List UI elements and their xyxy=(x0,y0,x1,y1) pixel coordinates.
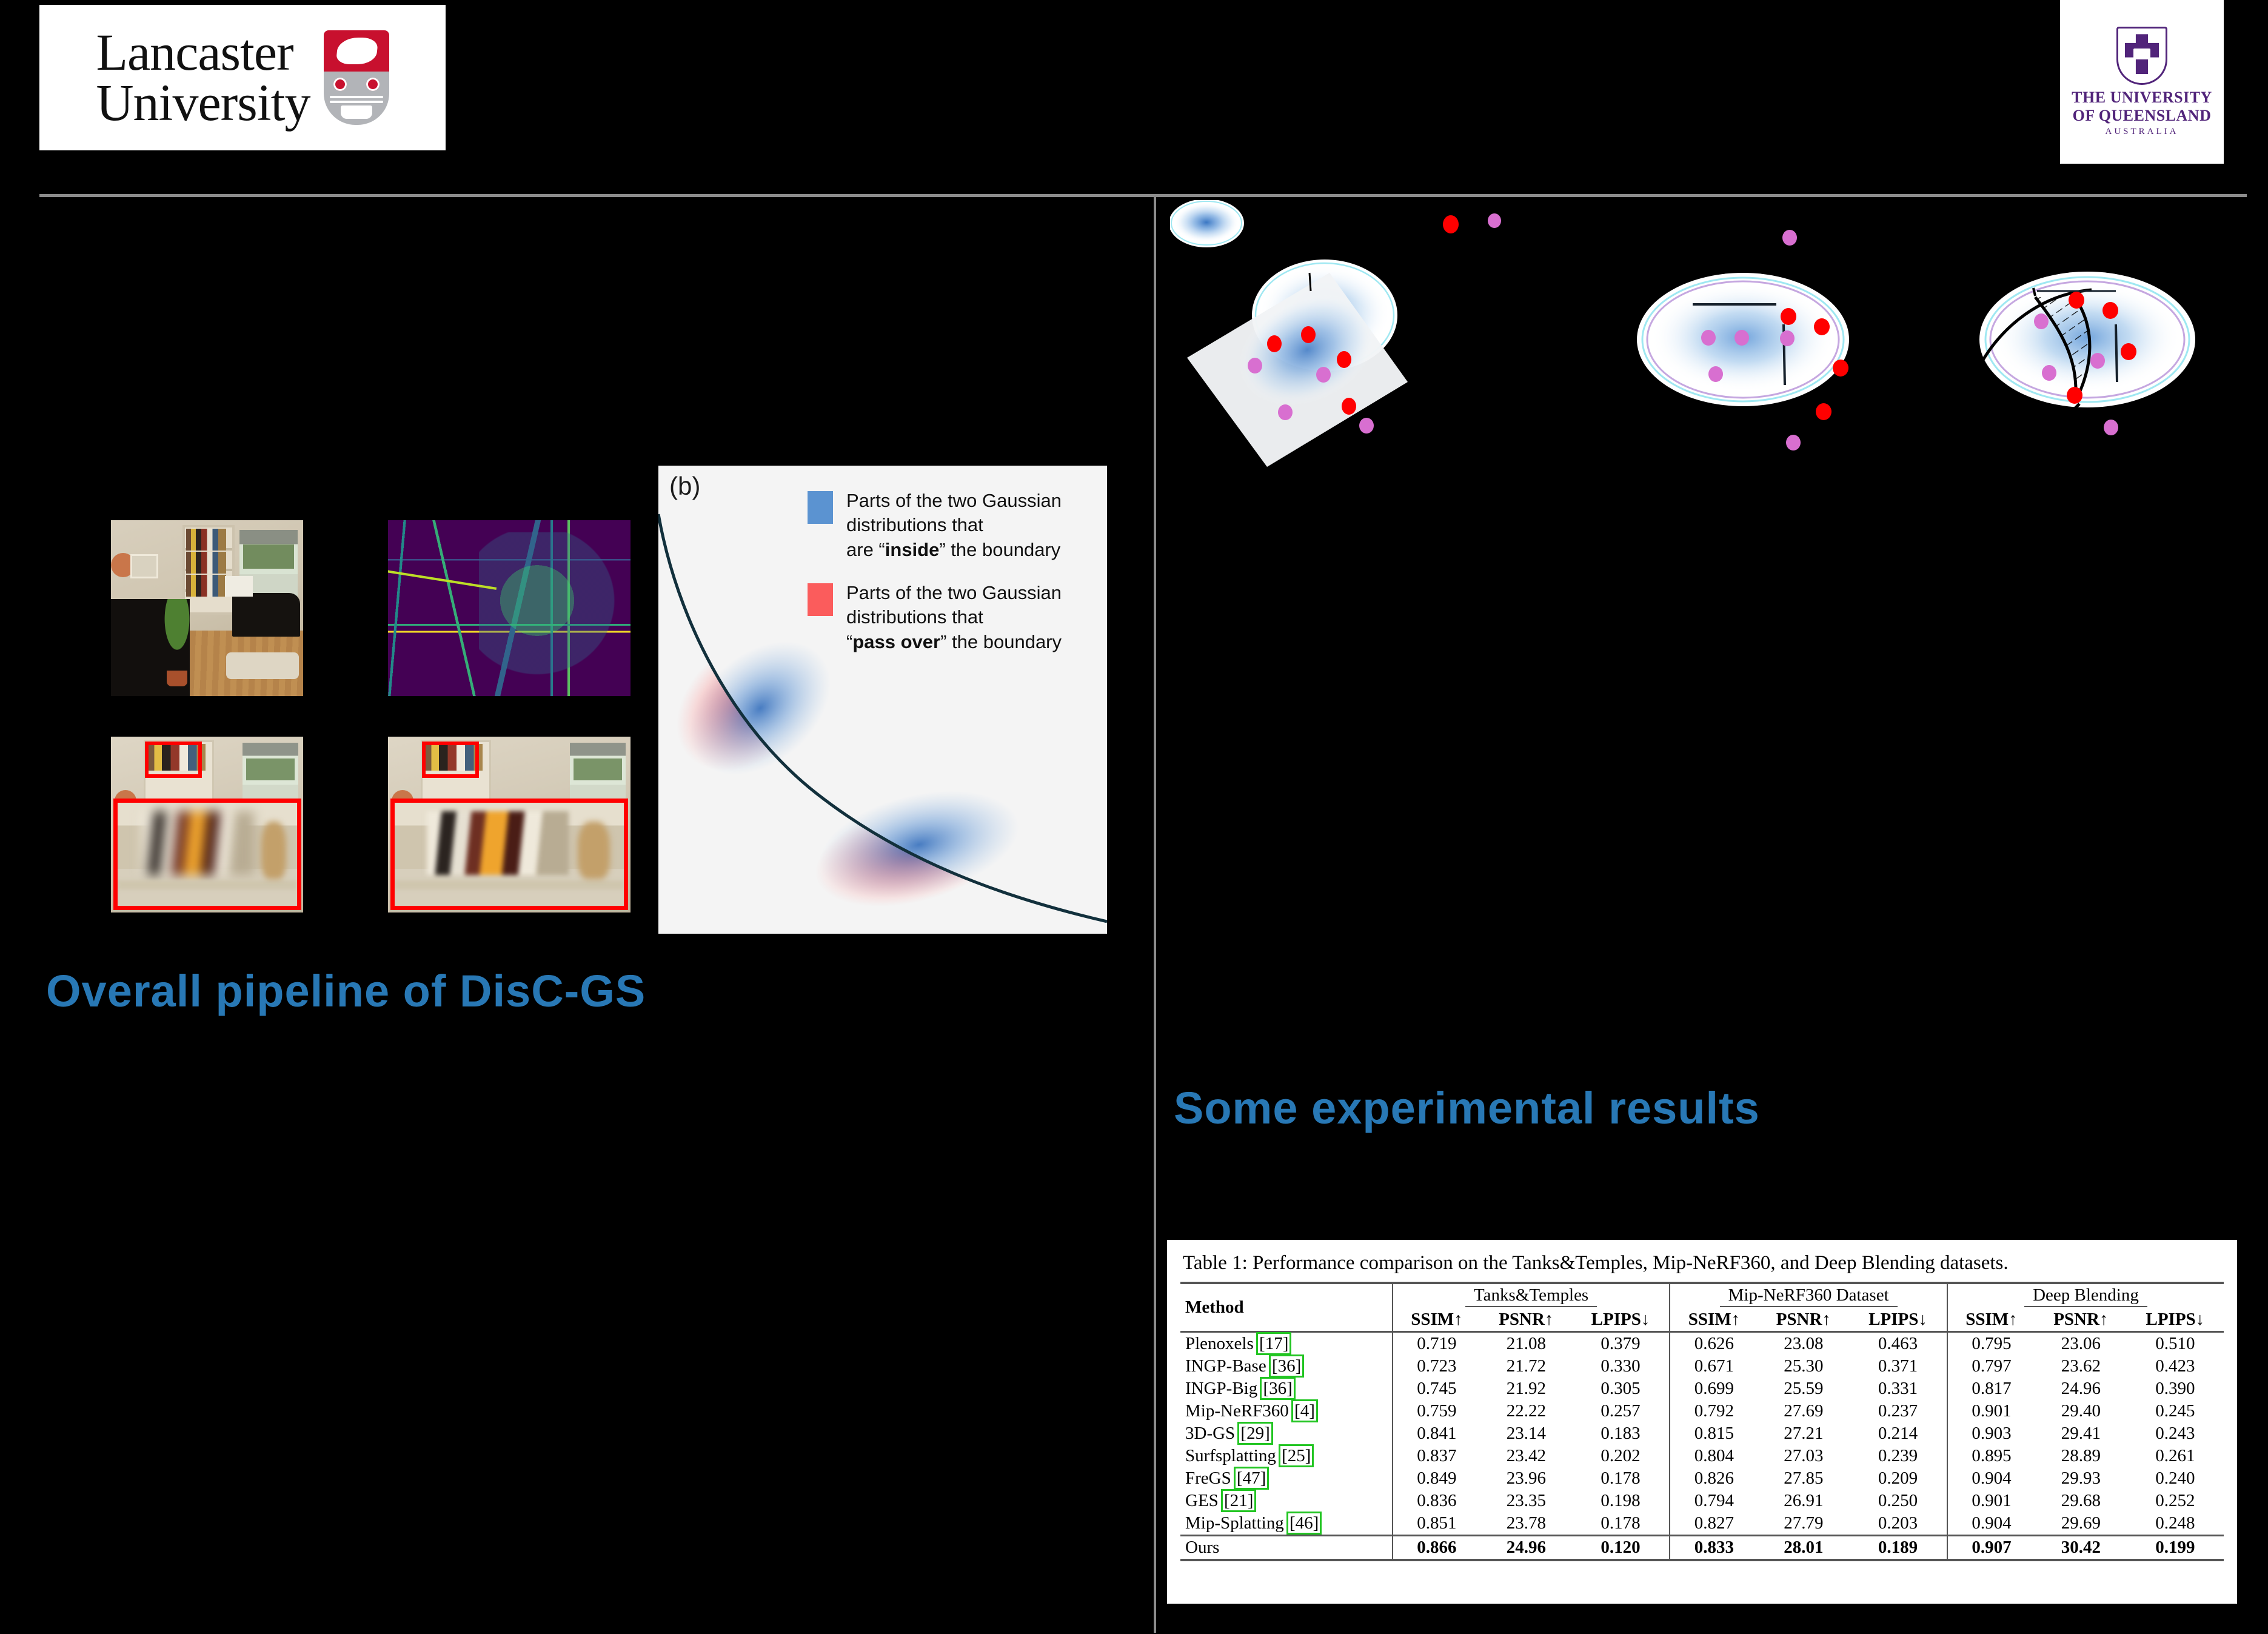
uq-crest-icon xyxy=(2116,27,2167,85)
cell-value: 27.21 xyxy=(1758,1422,1849,1445)
panel-1-gaussian-on-plane xyxy=(1187,259,1408,467)
table-group-header-row: Method Tanks&Temples Mip-NeRF360 Dataset… xyxy=(1180,1283,2224,1308)
citation-ref[interactable]: [47] xyxy=(1236,1468,1267,1488)
ours-result-with-zoom-crop xyxy=(388,737,631,912)
cell-value: 29.69 xyxy=(2035,1512,2127,1536)
table-row: Ours0.86624.960.1200.83328.010.1890.9073… xyxy=(1180,1535,2224,1560)
cell-method: Ours xyxy=(1180,1535,1393,1560)
cell-method: Plenoxels [17] xyxy=(1180,1331,1393,1355)
cell-value: 0.248 xyxy=(2127,1512,2224,1536)
table-row: Plenoxels [17]0.71921.080.3790.62623.080… xyxy=(1180,1331,2224,1355)
cell-value: 27.69 xyxy=(1758,1400,1849,1422)
cell-value: 0.901 xyxy=(1947,1400,2035,1422)
discrete-gaussian-clipping-diagram xyxy=(1170,200,2255,485)
cell-method: FreGS [47] xyxy=(1180,1467,1393,1490)
cell-value: 0.243 xyxy=(2127,1422,2224,1445)
cell-value: 23.96 xyxy=(1480,1467,1572,1490)
cell-method: Surfsplatting [25] xyxy=(1180,1445,1393,1467)
cell-value: 30.42 xyxy=(2035,1535,2127,1560)
cell-value: 0.237 xyxy=(1849,1400,1947,1422)
cell-value: 0.240 xyxy=(2127,1467,2224,1490)
cell-method: 3D-GS [29] xyxy=(1180,1422,1393,1445)
cell-value: 28.89 xyxy=(2035,1445,2127,1467)
cell-value: 0.797 xyxy=(1947,1355,2035,1378)
cell-value: 0.841 xyxy=(1393,1422,1480,1445)
col-header-lpips-3: LPIPS↓ xyxy=(2127,1308,2224,1332)
cell-value: 0.907 xyxy=(1947,1535,2035,1560)
cell-value: 24.96 xyxy=(2035,1378,2127,1400)
cell-value: 0.423 xyxy=(2127,1355,2224,1378)
cell-value: 0.699 xyxy=(1670,1378,1758,1400)
col-header-ssim-1: SSIM↑ xyxy=(1393,1308,1480,1332)
cell-value: 29.40 xyxy=(2035,1400,2127,1422)
cell-value: 0.371 xyxy=(1849,1355,1947,1378)
cell-value: 23.08 xyxy=(1758,1331,1849,1355)
performance-comparison-table: Method Tanks&Temples Mip-NeRF360 Dataset… xyxy=(1180,1282,2224,1561)
cell-value: 0.178 xyxy=(1572,1467,1670,1490)
legend-item-pass-over: Parts of the two Gaussiandistributions t… xyxy=(808,581,1062,654)
cell-method: INGP-Base [36] xyxy=(1180,1355,1393,1378)
lancaster-logo-wordmark: Lancaster University xyxy=(96,27,310,127)
cell-value: 23.35 xyxy=(1480,1490,1572,1512)
cell-value: 0.866 xyxy=(1393,1535,1480,1560)
table-caption: Table 1: Performance comparison on the T… xyxy=(1183,1251,2224,1276)
col-header-psnr-3: PSNR↑ xyxy=(2035,1308,2127,1332)
cell-method: INGP-Big [36] xyxy=(1180,1378,1393,1400)
cell-value: 23.06 xyxy=(2035,1331,2127,1355)
cell-value: 0.759 xyxy=(1393,1400,1480,1422)
cell-value: 25.30 xyxy=(1758,1355,1849,1378)
cell-value: 21.72 xyxy=(1480,1355,1572,1378)
cell-value: 0.904 xyxy=(1947,1467,2035,1490)
cell-value: 0.719 xyxy=(1393,1331,1480,1355)
cell-value: 0.198 xyxy=(1572,1490,1670,1512)
cell-value: 0.895 xyxy=(1947,1445,2035,1467)
gaussian-boundary-panel: (b) Parts of the two Gaussiandistributio… xyxy=(658,466,1107,934)
cell-value: 0.189 xyxy=(1849,1535,1947,1560)
citation-ref[interactable]: [36] xyxy=(1262,1379,1293,1398)
legend-item-inside: Parts of the two Gaussiandistributions t… xyxy=(808,489,1062,562)
cell-value: 0.183 xyxy=(1572,1422,1670,1445)
cell-value: 0.261 xyxy=(2127,1445,2224,1467)
table-row: INGP-Big [36]0.74521.920.3050.69925.590.… xyxy=(1180,1378,2224,1400)
col-header-psnr-1: PSNR↑ xyxy=(1480,1308,1572,1332)
crop-box-small xyxy=(145,742,202,778)
cell-value: 25.59 xyxy=(1758,1378,1849,1400)
cell-value: 21.92 xyxy=(1480,1378,1572,1400)
cell-value: 0.794 xyxy=(1670,1490,1758,1512)
lone-magenta-dot xyxy=(1488,213,1501,228)
cell-value: 23.78 xyxy=(1480,1512,1572,1536)
cell-value: 0.626 xyxy=(1670,1331,1758,1355)
cell-value: 0.815 xyxy=(1670,1422,1758,1445)
cell-value: 0.792 xyxy=(1670,1400,1758,1422)
col-header-psnr-2: PSNR↑ xyxy=(1758,1308,1849,1332)
legend-label-pass-over: Parts of the two Gaussiandistributions t… xyxy=(846,581,1062,654)
cell-value: 29.68 xyxy=(2035,1490,2127,1512)
lancaster-logo-line1: Lancaster xyxy=(96,27,310,78)
cell-value: 23.14 xyxy=(1480,1422,1572,1445)
cell-value: 0.671 xyxy=(1670,1355,1758,1378)
table-row: GES [21]0.83623.350.1980.79426.910.2500.… xyxy=(1180,1490,2224,1512)
panel-b-label: (b) xyxy=(669,472,700,501)
legend-swatch-pass-over xyxy=(808,583,833,616)
cell-value: 0.804 xyxy=(1670,1445,1758,1467)
cell-value: 27.79 xyxy=(1758,1512,1849,1536)
cell-value: 0.903 xyxy=(1947,1422,2035,1445)
crop-box-zoom xyxy=(390,799,628,910)
cell-value: 27.85 xyxy=(1758,1467,1849,1490)
cell-value: 29.41 xyxy=(2035,1422,2127,1445)
lancaster-logo-line2: University xyxy=(96,78,310,128)
cell-value: 0.390 xyxy=(2127,1378,2224,1400)
citation-ref[interactable]: [21] xyxy=(1223,1491,1254,1510)
cell-value: 0.245 xyxy=(2127,1400,2224,1422)
col-header-ssim-3: SSIM↑ xyxy=(1947,1308,2035,1332)
uq-logo-line2: OF QUEENSLAND xyxy=(2073,107,2212,124)
cell-method: GES [21] xyxy=(1180,1490,1393,1512)
cell-value: 0.837 xyxy=(1393,1445,1480,1467)
cell-value: 26.91 xyxy=(1758,1490,1849,1512)
cell-value: 0.510 xyxy=(2127,1331,2224,1355)
cell-value: 0.199 xyxy=(2127,1535,2224,1560)
cell-value: 21.08 xyxy=(1480,1331,1572,1355)
cell-value: 23.62 xyxy=(2035,1355,2127,1378)
cell-value: 0.202 xyxy=(1572,1445,1670,1467)
cell-value: 0.827 xyxy=(1670,1512,1758,1536)
cell-value: 0.239 xyxy=(1849,1445,1947,1467)
citation-ref[interactable]: [36] xyxy=(1271,1356,1302,1376)
legend-label-inside: Parts of the two Gaussiandistributions t… xyxy=(846,489,1062,562)
citation-ref[interactable]: [29] xyxy=(1239,1424,1271,1443)
small-gaussian-top-left xyxy=(1170,200,1244,247)
heading-experimental-results: Some experimental results xyxy=(1174,1082,1760,1134)
cell-value: 0.795 xyxy=(1947,1331,2035,1355)
citation-ref[interactable]: [4] xyxy=(1293,1401,1316,1421)
cell-value: 0.120 xyxy=(1572,1535,1670,1560)
citation-ref[interactable]: [17] xyxy=(1258,1334,1290,1353)
legend-swatch-inside xyxy=(808,491,833,524)
header-divider xyxy=(39,194,2247,197)
cell-value: 0.203 xyxy=(1849,1512,1947,1536)
cell-value: 0.209 xyxy=(1849,1467,1947,1490)
cell-value: 0.745 xyxy=(1393,1378,1480,1400)
col-group-tanks: Tanks&Temples xyxy=(1393,1283,1670,1308)
cell-value: 0.250 xyxy=(1849,1490,1947,1512)
column-divider xyxy=(1154,197,1156,1633)
lancaster-crest-icon xyxy=(324,30,389,125)
cell-value: 23.42 xyxy=(1480,1445,1572,1467)
cell-value: 0.379 xyxy=(1572,1331,1670,1355)
cell-value: 0.178 xyxy=(1572,1512,1670,1536)
results-table-panel: Table 1: Performance comparison on the T… xyxy=(1167,1240,2237,1604)
cell-value: 22.22 xyxy=(1480,1400,1572,1422)
cell-value: 0.836 xyxy=(1393,1490,1480,1512)
cell-value: 24.96 xyxy=(1480,1535,1572,1560)
table-row: Mip-Splatting [46]0.85123.780.1780.82727… xyxy=(1180,1512,2224,1536)
cell-value: 0.817 xyxy=(1947,1378,2035,1400)
table-row: 3D-GS [29]0.84123.140.1830.81527.210.214… xyxy=(1180,1422,2224,1445)
cell-value: 0.723 xyxy=(1393,1355,1480,1378)
crop-box-small xyxy=(422,742,479,778)
table-row: FreGS [47]0.84923.960.1780.82627.850.209… xyxy=(1180,1467,2224,1490)
cell-value: 0.330 xyxy=(1572,1355,1670,1378)
table-row: Surfsplatting [25]0.83723.420.2020.80427… xyxy=(1180,1445,2224,1467)
col-group-mipnerf360: Mip-NeRF360 Dataset xyxy=(1670,1283,1947,1308)
cell-value: 0.826 xyxy=(1670,1467,1758,1490)
cell-value: 27.03 xyxy=(1758,1445,1849,1467)
cell-method: Mip-NeRF360 [4] xyxy=(1180,1400,1393,1422)
citation-ref[interactable]: [25] xyxy=(1280,1446,1312,1465)
cell-value: 0.851 xyxy=(1393,1512,1480,1536)
lone-red-dot xyxy=(1443,215,1459,233)
cell-value: 0.257 xyxy=(1572,1400,1670,1422)
cell-value: 0.904 xyxy=(1947,1512,2035,1536)
cell-value: 0.252 xyxy=(2127,1490,2224,1512)
col-header-method: Method xyxy=(1180,1283,1393,1332)
cell-value: 0.833 xyxy=(1670,1535,1758,1560)
table-row: Mip-NeRF360 [4]0.75922.220.2570.79227.69… xyxy=(1180,1400,2224,1422)
panel-3-gaussian-with-boundary xyxy=(1976,272,2195,443)
uq-logo-line1: THE UNIVERSITY xyxy=(2072,89,2212,106)
col-group-deepblending: Deep Blending xyxy=(1947,1283,2224,1308)
col-header-ssim-2: SSIM↑ xyxy=(1670,1308,1758,1332)
rendered-room-photo xyxy=(111,520,303,696)
uq-logo-line3: AUSTRALIA xyxy=(2106,127,2179,137)
baseline-result-with-zoom-crop xyxy=(111,737,303,912)
citation-ref[interactable]: [46] xyxy=(1288,1513,1320,1533)
depth-edge-map xyxy=(388,520,631,696)
cell-value: 0.901 xyxy=(1947,1490,2035,1512)
cell-value: 0.331 xyxy=(1849,1378,1947,1400)
gaussian-panels-svg xyxy=(1170,200,2255,485)
table-body: Plenoxels [17]0.71921.080.3790.62623.080… xyxy=(1180,1331,2224,1560)
col-header-lpips-1: LPIPS↓ xyxy=(1572,1308,1670,1332)
table-row: INGP-Base [36]0.72321.720.3300.67125.300… xyxy=(1180,1355,2224,1378)
crop-box-zoom xyxy=(113,799,301,910)
col-header-lpips-2: LPIPS↓ xyxy=(1849,1308,1947,1332)
university-of-queensland-logo: THE UNIVERSITY OF QUEENSLAND AUSTRALIA xyxy=(2060,0,2224,164)
cell-method: Mip-Splatting [46] xyxy=(1180,1512,1393,1536)
cell-value: 29.93 xyxy=(2035,1467,2127,1490)
panel-2-gaussian-ellipse xyxy=(1637,230,1849,450)
cell-value: 28.01 xyxy=(1758,1535,1849,1560)
cell-value: 0.214 xyxy=(1849,1422,1947,1445)
cell-value: 0.849 xyxy=(1393,1467,1480,1490)
lancaster-university-logo: Lancaster University xyxy=(39,5,446,150)
heading-overall-pipeline: Overall pipeline of DisC-GS xyxy=(46,965,646,1017)
cell-value: 0.463 xyxy=(1849,1331,1947,1355)
cell-value: 0.305 xyxy=(1572,1378,1670,1400)
